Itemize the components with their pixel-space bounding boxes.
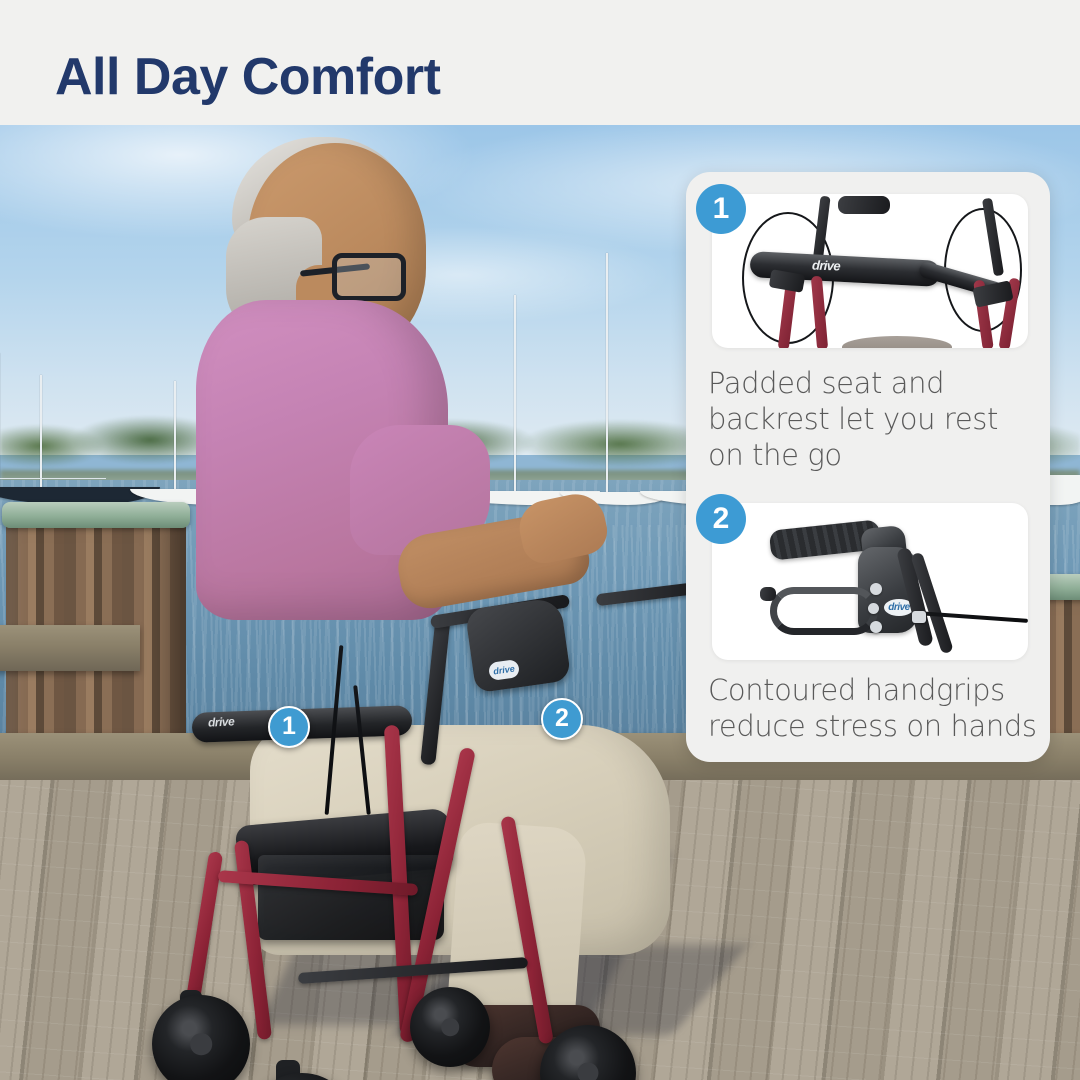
person-on-rollator: drive drive (0, 125, 700, 1080)
feature-image-card-2: drive (712, 503, 1028, 660)
hand (514, 489, 611, 568)
storage-basket (258, 855, 444, 940)
seat-edge (842, 336, 952, 348)
product-feature-graphic: All Day Comfort (0, 0, 1080, 1080)
page-title: All Day Comfort (55, 47, 440, 107)
eyeglasses (332, 253, 406, 301)
rivet (870, 583, 882, 595)
feature-badge-2[interactable]: 2 (696, 494, 746, 544)
drive-logo: drive (208, 714, 235, 729)
feature-caption-2: Contoured handgrips reduce stress on han… (708, 672, 1038, 744)
front-wheel (152, 995, 250, 1080)
rivet (868, 603, 879, 614)
rear-wheel (410, 987, 490, 1067)
brake-lever (770, 587, 878, 635)
feature-image-card-1: drive (712, 194, 1028, 348)
front-wheel (248, 1073, 356, 1080)
photo-marker-1[interactable]: 1 (268, 706, 310, 748)
photo-marker-2[interactable]: 2 (541, 698, 583, 740)
cable-ferrule (912, 611, 926, 623)
rivet (870, 621, 882, 633)
feature-caption-1: Padded seat and backrest let you rest on… (708, 365, 1038, 473)
handgrip-assembly (465, 597, 572, 694)
handgrip (838, 196, 890, 214)
header-band: All Day Comfort (0, 0, 1080, 125)
feature-callout-panel: drive 1 Padded seat and backrest let you… (686, 172, 1050, 762)
drive-logo: drive (812, 258, 841, 274)
feature-badge-1[interactable]: 1 (696, 184, 746, 234)
lever-clamp (760, 587, 776, 601)
